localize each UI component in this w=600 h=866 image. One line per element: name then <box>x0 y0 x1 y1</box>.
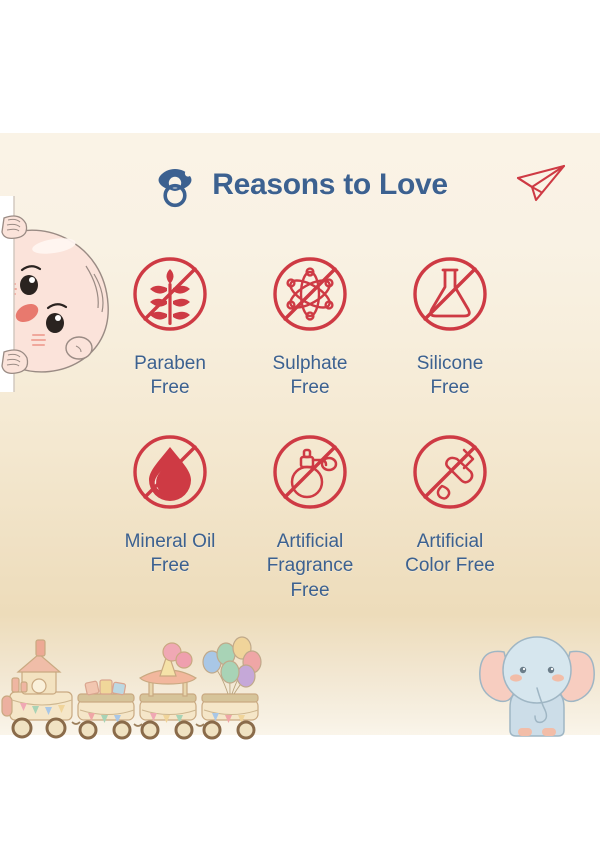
page-title: Reasons to Love <box>212 168 448 202</box>
reasons-grid: Paraben Free Sulphate Free <box>100 250 520 603</box>
reason-item-silicone[interactable]: Silicone Free <box>380 250 520 400</box>
reason-label: Artificial Color Free <box>405 530 495 578</box>
atom-no-icon <box>266 250 354 338</box>
toy-train-illustration <box>0 634 268 744</box>
reason-label: Paraben Free <box>134 352 206 400</box>
reason-item-artificial-color[interactable]: Artificial Color Free <box>380 428 520 602</box>
elephant-illustration <box>478 628 596 744</box>
reason-item-sulphate[interactable]: Sulphate Free <box>240 250 380 400</box>
reason-label: Sulphate Free <box>272 352 347 400</box>
page-header: Reasons to Love <box>0 150 600 220</box>
poster-canvas: Reasons to Love <box>0 0 600 866</box>
paper-plane-icon <box>514 162 570 206</box>
reason-item-mineral-oil[interactable]: Mineral Oil Free <box>100 428 240 602</box>
reason-label: Silicone Free <box>417 352 484 400</box>
perfume-no-icon <box>266 428 354 516</box>
flask-no-icon <box>406 250 494 338</box>
reason-label: Artificial Fragrance Free <box>267 530 354 602</box>
wheat-no-icon <box>126 250 214 338</box>
reason-label: Mineral Oil Free <box>125 530 216 578</box>
droplet-no-icon <box>126 428 214 516</box>
reason-item-artificial-fragrance[interactable]: Artificial Fragrance Free <box>240 428 380 602</box>
reason-item-paraben[interactable]: Paraben Free <box>100 250 240 400</box>
dropper-no-icon <box>406 428 494 516</box>
pacifier-icon <box>152 162 198 208</box>
